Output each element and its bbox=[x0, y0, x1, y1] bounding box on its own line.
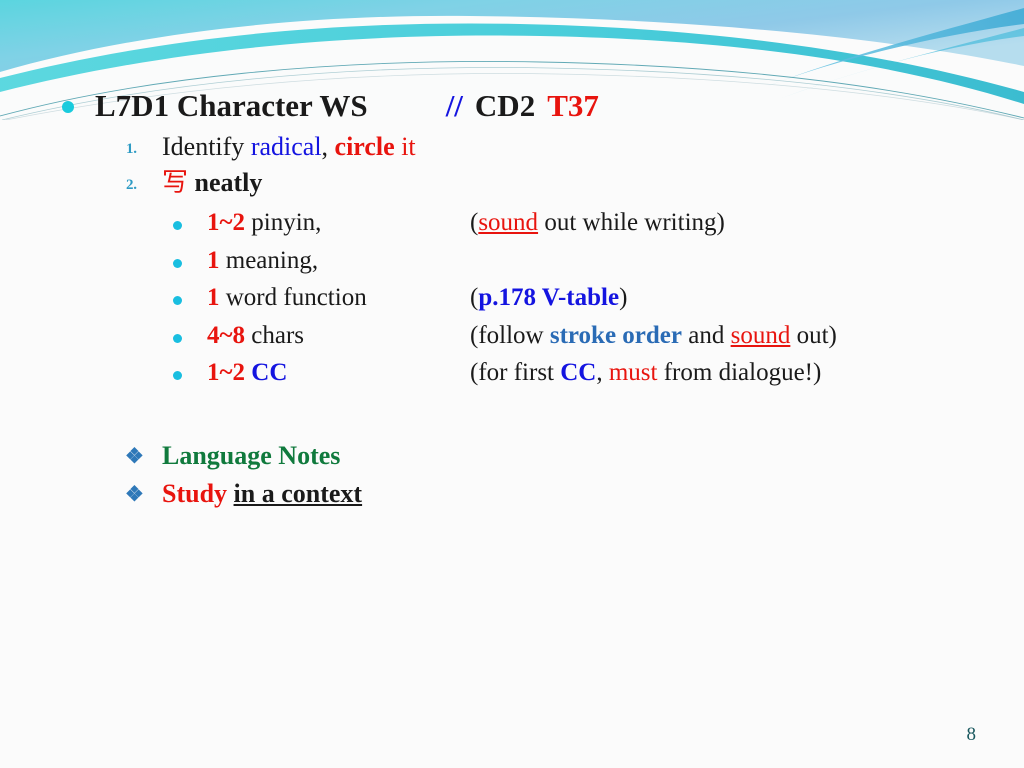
diamond-bullet-icon: ❖ bbox=[125, 481, 144, 508]
step-1-seg-it: it bbox=[395, 132, 416, 161]
detail-3-count: 1 bbox=[207, 284, 220, 311]
detail-4-paren-open: (follow bbox=[470, 322, 550, 349]
title-track-label: T37 bbox=[547, 88, 599, 123]
step-1-seg-comma: , bbox=[322, 132, 335, 161]
title-slashes: // bbox=[446, 88, 463, 123]
detail-5-right: (for first CC, must from dialogue!) bbox=[470, 359, 1024, 387]
detail-5-note: from dialogue!) bbox=[657, 359, 821, 386]
detail-2-left: 1 meaning, bbox=[207, 247, 470, 275]
detail-1-left: 1~2 pinyin, bbox=[207, 209, 470, 237]
detail-1-note: out while writing) bbox=[538, 209, 725, 236]
detail-4-sound: sound bbox=[731, 322, 791, 349]
footer-2-study: Study bbox=[162, 479, 234, 508]
step-2-seg-neatly: neatly bbox=[188, 168, 262, 197]
small-round-bullet-icon bbox=[173, 334, 182, 343]
page-number: 8 bbox=[967, 724, 977, 746]
detail-3-vtable-ref: p.178 V-table bbox=[478, 284, 619, 311]
step-2-seg-hanzi: 写 bbox=[162, 168, 188, 198]
detail-item-chars: 4~8 chars (follow stroke order and sound… bbox=[0, 322, 1024, 350]
detail-2-count: 1 bbox=[207, 247, 220, 274]
detail-5-left: 1~2 CC bbox=[207, 359, 470, 387]
detail-4-stroke-order: stroke order bbox=[550, 322, 682, 349]
detail-5-cc: CC bbox=[560, 359, 596, 386]
detail-item-cc: 1~2 CC (for first CC, must from dialogue… bbox=[0, 359, 1024, 387]
small-round-bullet-icon bbox=[173, 221, 182, 230]
footer-1-label: Language Notes bbox=[162, 441, 340, 470]
wave-right-curl bbox=[768, 8, 1024, 86]
step-1-seg-circle: circle bbox=[335, 132, 395, 161]
round-bullet-icon bbox=[62, 101, 74, 113]
slide-title: L7D1 Character WS//CD2T37 bbox=[0, 88, 1024, 125]
detail-2-right bbox=[470, 247, 1024, 275]
step-1-seg-identify: Identify bbox=[162, 132, 251, 161]
detail-4-and: and bbox=[682, 322, 731, 349]
content-spacer bbox=[0, 387, 1024, 433]
detail-4-right: (follow stroke order and sound out) bbox=[470, 322, 1024, 350]
step-item-2: 2.写 neatly bbox=[0, 168, 1024, 199]
title-main-text: L7D1 Character WS bbox=[95, 88, 368, 123]
small-round-bullet-icon bbox=[173, 371, 182, 380]
step-1-seg-radical: radical bbox=[251, 132, 322, 161]
detail-4-out: out) bbox=[790, 322, 837, 349]
detail-5-must: must bbox=[609, 359, 658, 386]
footer-2-context: in a context bbox=[234, 479, 363, 508]
detail-4-count: 4~8 bbox=[207, 322, 245, 349]
footer-item-language-notes: ❖Language Notes bbox=[0, 441, 1024, 471]
detail-item-word-function: 1 word function (p.178 V-table) bbox=[0, 284, 1024, 312]
title-cd-label: CD2 bbox=[475, 88, 535, 123]
detail-3-label: word function bbox=[220, 284, 367, 311]
detail-1-count: 1~2 bbox=[207, 209, 245, 236]
detail-3-left: 1 word function bbox=[207, 284, 470, 312]
wave-sky-band bbox=[0, 0, 1024, 72]
slide-content: L7D1 Character WS//CD2T37 1.Identify rad… bbox=[0, 88, 1024, 509]
detail-2-label: meaning, bbox=[220, 247, 319, 274]
detail-5-paren-open: (for first bbox=[470, 359, 560, 386]
small-round-bullet-icon bbox=[173, 259, 182, 268]
small-round-bullet-icon bbox=[173, 296, 182, 305]
detail-5-label: CC bbox=[245, 359, 287, 386]
detail-5-count: 1~2 bbox=[207, 359, 245, 386]
step-item-1: 1.Identify radical, circle it bbox=[0, 132, 1024, 162]
diamond-bullet-icon: ❖ bbox=[125, 443, 144, 470]
detail-3-paren-close: ) bbox=[619, 284, 627, 311]
footer-item-study-context: ❖Study in a context bbox=[0, 479, 1024, 509]
detail-3-right: (p.178 V-table) bbox=[470, 284, 1024, 312]
detail-item-pinyin: 1~2 pinyin, (sound out while writing) bbox=[0, 209, 1024, 237]
detail-4-left: 4~8 chars bbox=[207, 322, 470, 350]
detail-1-right: (sound out while writing) bbox=[470, 209, 1024, 237]
detail-1-label: pinyin, bbox=[245, 209, 321, 236]
step-number-1: 1. bbox=[126, 141, 137, 158]
detail-1-sound: sound bbox=[478, 209, 538, 236]
step-number-2: 2. bbox=[126, 177, 137, 194]
detail-4-label: chars bbox=[245, 322, 304, 349]
detail-5-comma: , bbox=[596, 359, 609, 386]
detail-item-meaning: 1 meaning, bbox=[0, 247, 1024, 275]
